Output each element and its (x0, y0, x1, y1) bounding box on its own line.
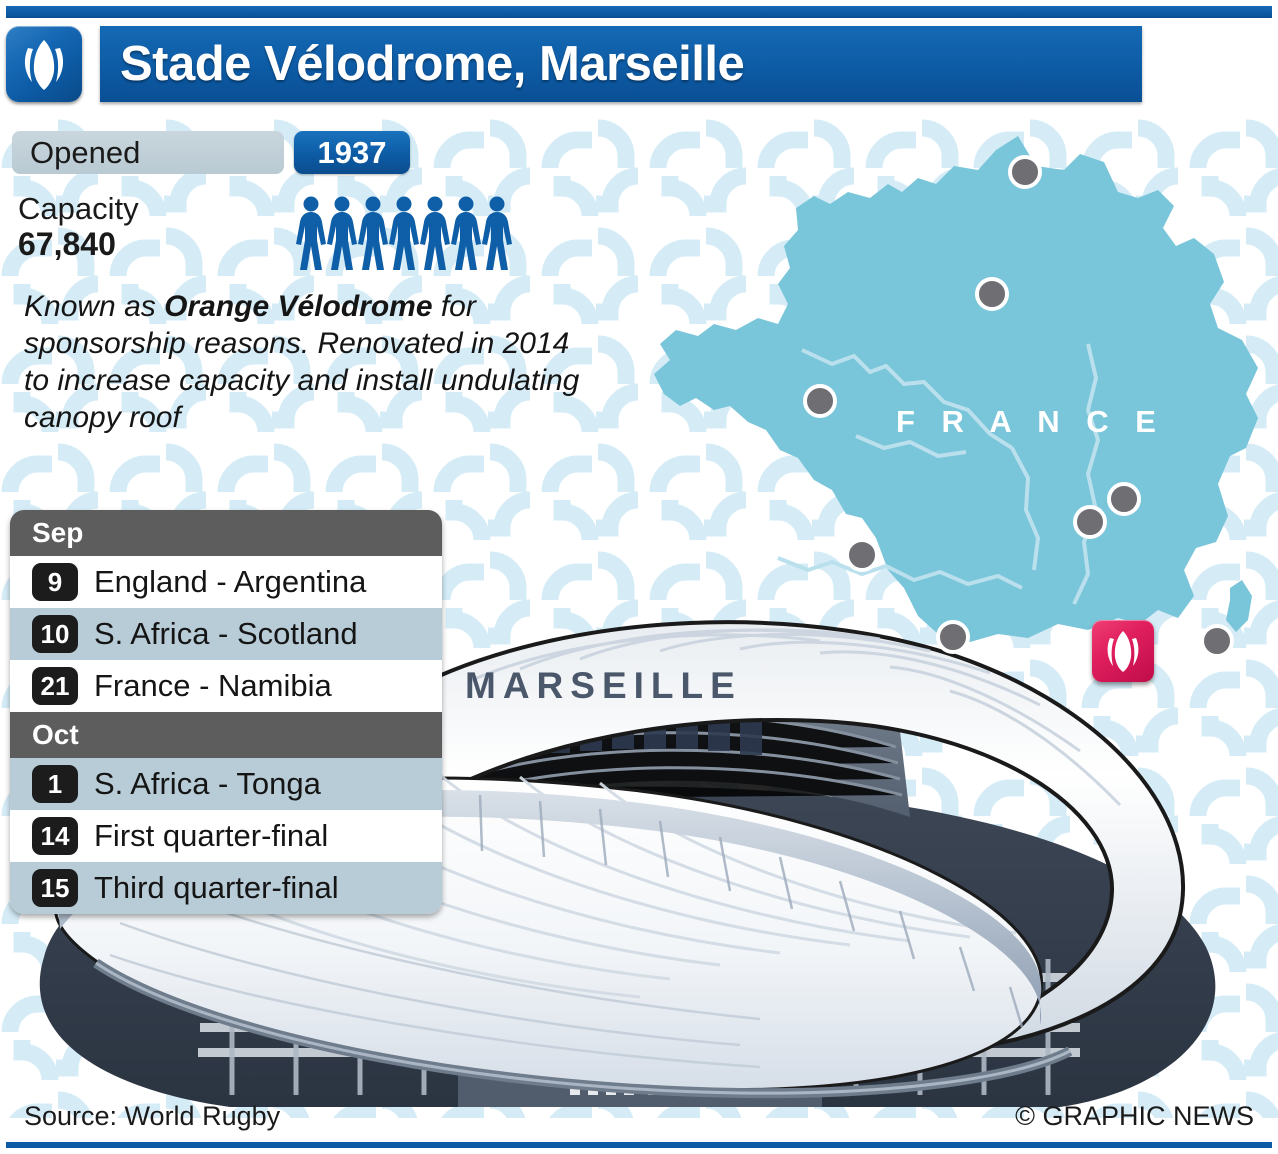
table-row[interactable]: 15 Third quarter-final (10, 862, 442, 914)
capacity-value: 67,840 (18, 226, 139, 262)
match-fixture: France - Namibia (94, 668, 332, 704)
table-row[interactable]: 9 England - Argentina (10, 556, 442, 608)
city-dot-lille (1008, 155, 1042, 189)
note-bold: Orange Vélodrome (164, 290, 432, 323)
france-landmass (654, 136, 1258, 642)
title-bar: Stade Vélodrome, Marseille (100, 26, 1142, 102)
world-rugby-shield-icon (6, 26, 82, 102)
match-day-badge: 14 (32, 817, 78, 855)
city-dot-nantes (803, 384, 837, 418)
marseille-host-marker (1092, 620, 1154, 682)
table-row[interactable]: 21 France - Namibia (10, 660, 442, 712)
table-row[interactable]: 14 First quarter-final (10, 810, 442, 862)
match-day-badge: 15 (32, 869, 78, 907)
city-dot-toulouse (936, 620, 970, 654)
match-fixture: S. Africa - Scotland (94, 616, 358, 652)
world-rugby-shield-icon (1092, 620, 1154, 682)
capacity-block: Capacity 67,840 (18, 192, 139, 262)
opened-label: Opened (12, 131, 284, 174)
match-fixture: Third quarter-final (94, 870, 339, 906)
stadium-facade-name: MARSEILLE (465, 665, 742, 707)
city-dot-bordeaux (845, 538, 879, 572)
footer-accent-rule (6, 1142, 1272, 1148)
city-dot-nice (1200, 624, 1234, 658)
page-header: Stade Vélodrome, Marseille (6, 26, 1142, 102)
match-day-badge: 9 (32, 563, 78, 601)
city-dot-lyon (1073, 505, 1107, 539)
note-prefix: Known as (24, 290, 164, 323)
credit-text: © GRAPHIC NEWS (1015, 1101, 1254, 1132)
match-fixture: England - Argentina (94, 564, 366, 600)
match-day-badge: 10 (32, 615, 78, 653)
capacity-people-icons (296, 196, 516, 272)
world-rugby-logo-badge (6, 26, 82, 102)
match-day-badge: 1 (32, 765, 78, 803)
schedule-month-header-sep: Sep (10, 510, 442, 556)
match-schedule-panel: Sep 9 England - Argentina 10 S. Africa -… (10, 510, 442, 914)
france-label: F R A N C E (896, 404, 1165, 440)
page-title: Stade Vélodrome, Marseille (120, 36, 744, 92)
source-text: Source: World Rugby (24, 1101, 280, 1132)
match-fixture: First quarter-final (94, 818, 328, 854)
match-day-badge: 21 (32, 667, 78, 705)
city-dot-saint-etienne (1107, 482, 1141, 516)
capacity-label: Capacity (18, 192, 139, 226)
opened-value-badge: 1937 (294, 131, 410, 174)
table-row[interactable]: 1 S. Africa - Tonga (10, 758, 442, 810)
top-accent-rule (6, 6, 1272, 18)
opened-row: Opened 1937 (12, 131, 284, 174)
table-row[interactable]: 10 S. Africa - Scotland (10, 608, 442, 660)
stadium-note: Known as Orange Vélodrome for sponsorshi… (24, 288, 584, 436)
schedule-month-header-oct: Oct (10, 712, 442, 758)
match-fixture: S. Africa - Tonga (94, 766, 321, 802)
city-dot-paris (975, 277, 1009, 311)
